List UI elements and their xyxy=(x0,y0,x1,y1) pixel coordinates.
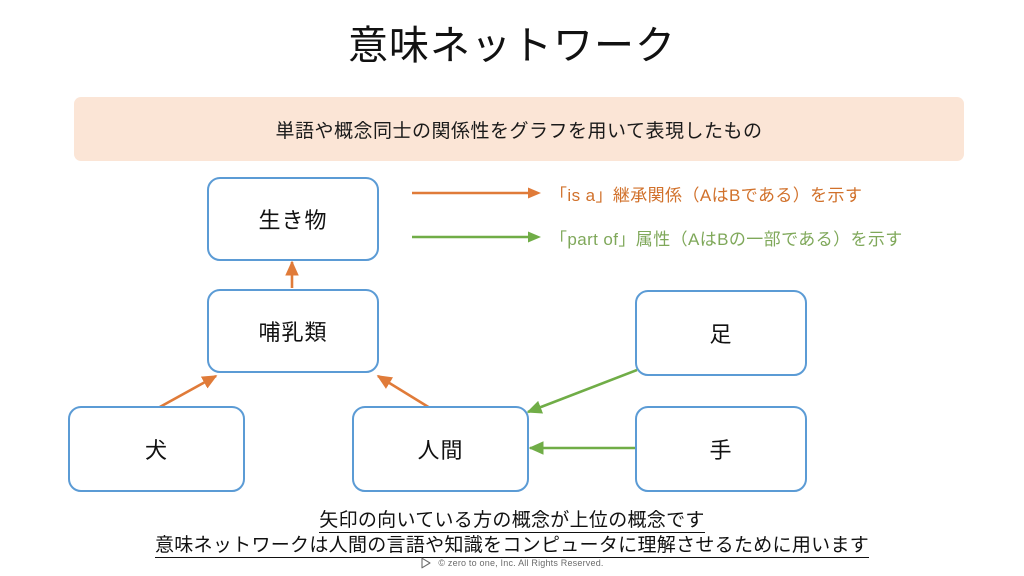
footer-copyright-text: © zero to one, Inc. All Rights Reserved. xyxy=(438,558,603,568)
legend-partof-label: 「part of」属性（AはBの一部である）を示す xyxy=(550,225,903,250)
legend-item-partof: 「part of」属性（AはBの一部である）を示す xyxy=(410,224,903,250)
slide-canvas: 意味ネットワーク 単語や概念同士の関係性をグラフを用いて表現したもの 生き物 哺… xyxy=(0,0,1024,576)
node-hand-label: 手 xyxy=(709,433,732,465)
legend-isa-label: 「is a」継承関係（AはBである）を示す xyxy=(550,181,862,206)
node-mammal-label: 哺乳類 xyxy=(258,315,327,347)
node-dog-label: 犬 xyxy=(145,433,168,465)
edge-leg-to-human xyxy=(528,370,637,412)
node-human-label: 人間 xyxy=(417,433,463,465)
caption-line-1: 矢印の向いている方の概念が上位の概念です xyxy=(0,505,1024,532)
node-living[interactable]: 生き物 xyxy=(207,177,379,261)
legend-item-isa: 「is a」継承関係（AはBである）を示す xyxy=(410,180,862,206)
node-mammal[interactable]: 哺乳類 xyxy=(207,289,379,373)
green-arrow-icon xyxy=(410,229,542,245)
edge-human-to-mammal xyxy=(378,376,430,408)
subtitle-text: 単語や概念同士の関係性をグラフを用いて表現したもの xyxy=(74,97,964,161)
node-leg-label: 足 xyxy=(709,317,732,349)
orange-arrow-icon xyxy=(410,185,542,201)
node-leg[interactable]: 足 xyxy=(635,290,807,376)
node-living-label: 生き物 xyxy=(258,203,327,235)
play-triangle-logo-icon xyxy=(420,557,432,569)
footer: © zero to one, Inc. All Rights Reserved. xyxy=(0,557,1024,569)
page-title: 意味ネットワーク xyxy=(0,20,1024,72)
node-human[interactable]: 人間 xyxy=(352,406,529,492)
node-hand[interactable]: 手 xyxy=(635,406,807,492)
caption-line-2: 意味ネットワークは人間の言語や知識をコンピュータに理解させるために用います xyxy=(0,530,1024,557)
node-dog[interactable]: 犬 xyxy=(68,406,245,492)
subtitle-banner: 単語や概念同士の関係性をグラフを用いて表現したもの xyxy=(74,97,964,161)
edge-dog-to-mammal xyxy=(158,376,216,408)
caption-line-2-text: 意味ネットワークは人間の言語や知識をコンピュータに理解させるために用います xyxy=(155,535,869,558)
